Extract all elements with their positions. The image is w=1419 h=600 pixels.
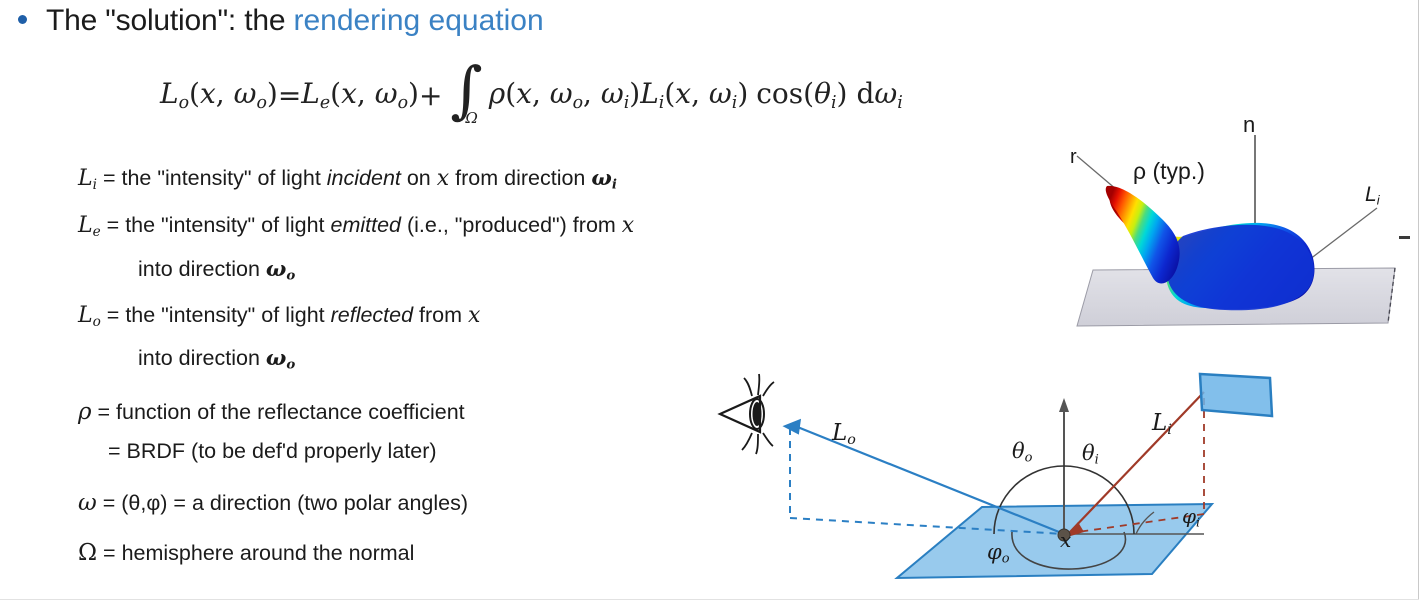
brdf-lobe-tail — [1106, 186, 1180, 284]
label-phi-o: φo — [987, 540, 1010, 567]
reflection-vector-line — [1077, 156, 1117, 190]
symbol-big-omega: Ω — [78, 540, 97, 566]
title-text-plain: The "solution": the — [46, 4, 293, 38]
eq-lo-term: Lo(x, ωo) — [160, 77, 278, 113]
integral-symbol: ∫ Ω — [450, 68, 482, 127]
integral-lower-limit: Ω — [465, 109, 477, 127]
label-phi-i: φi — [1182, 504, 1200, 529]
normal-arrowhead — [1059, 398, 1069, 412]
slide-title: The "solution": the rendering equation — [18, 4, 544, 38]
surface-plane — [897, 504, 1212, 578]
label-incoming-radiance: Li — [1152, 410, 1172, 438]
eq-plus: + — [419, 79, 442, 112]
eq-li-term: Li(x, ωi) — [640, 77, 748, 113]
label-outgoing-radiance: Lo — [832, 420, 856, 448]
label-reflection: r — [1070, 146, 1077, 169]
label-theta-i: θi — [1082, 441, 1099, 468]
light-source-rect — [1200, 374, 1272, 416]
definition-lo: Lo = the "intensity" of light reflected … — [78, 305, 918, 329]
eq-le-term: Le(x, ωo) — [301, 77, 419, 113]
eq-cos-term: cos(θi) — [756, 77, 847, 113]
eq-equals: = — [278, 79, 301, 112]
symbol-lo: Lo — [78, 303, 101, 328]
brdf-geometry-figure: Lo Li θo θi φo φi x — [712, 362, 1282, 600]
label-normal: n — [1243, 112, 1255, 138]
symbol-le: Le — [78, 213, 101, 238]
definition-li: Li = the "intensity" of light incident o… — [78, 168, 918, 192]
symbol-omega: ω — [78, 490, 97, 516]
symbol-li: Li — [78, 166, 97, 191]
integral-glyph: ∫ — [450, 68, 482, 113]
symbol-rho: ρ — [78, 399, 92, 425]
definition-le-cont: into direction ωo — [78, 259, 918, 283]
omega-o-symbol: ωo — [266, 257, 295, 282]
eye-icon — [720, 374, 774, 454]
definition-le: Le = the "intensity" of light emitted (i… — [78, 215, 918, 239]
eq-rho-term: ρ(x, ωo, ωi) — [489, 77, 640, 113]
label-incident-lobe: Li — [1365, 183, 1380, 208]
omega-o-symbol-2: ωo — [266, 346, 295, 371]
bullet-icon — [18, 15, 27, 24]
eq-differential: dωi — [856, 77, 902, 113]
rendering-equation: Lo(x, ωo) = Le(x, ωo) + ∫ Ω ρ(x, ωo, ωi)… — [160, 66, 903, 125]
label-theta-o: θo — [1012, 439, 1033, 466]
label-point-x: x — [1060, 528, 1071, 552]
brdf-lobe-figure: n r ρ (typ.) Li — [1055, 108, 1419, 356]
title-text-accent: rendering equation — [293, 4, 543, 38]
stray-dash-mark — [1399, 236, 1410, 239]
brdf-lobe-blue-body — [1167, 225, 1314, 311]
omega-i-symbol: ωi — [591, 166, 617, 191]
label-rho-typ: ρ (typ.) — [1133, 158, 1205, 185]
slide-canvas: The "solution": the rendering equation L… — [0, 0, 1419, 600]
brdf-lobe-svg — [1055, 108, 1419, 356]
